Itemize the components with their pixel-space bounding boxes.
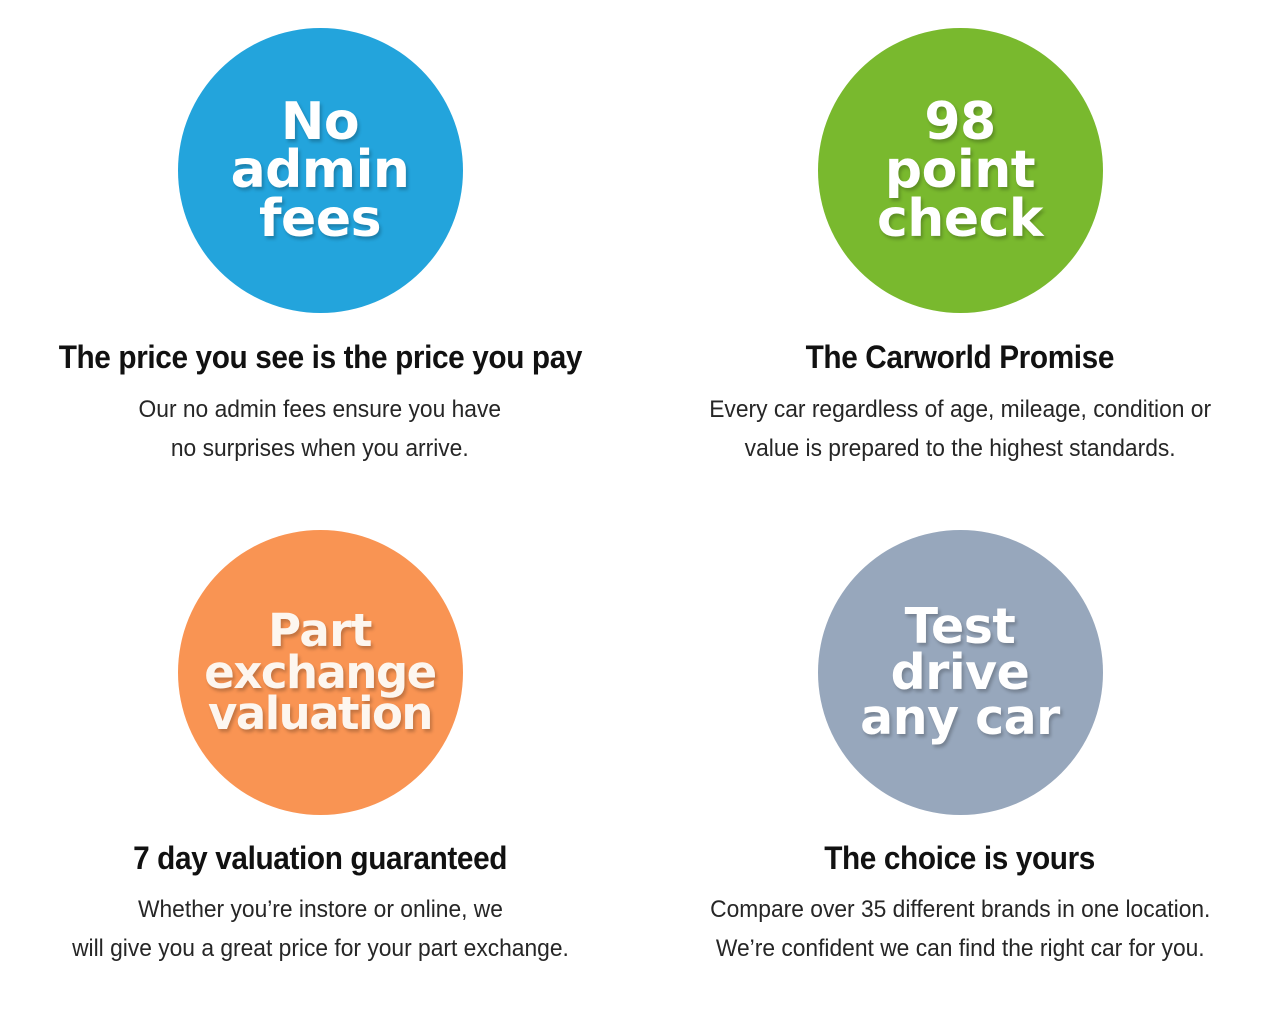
feature-card-no-admin-fees: No admin fees The price you see is the p…: [0, 8, 640, 512]
badge-circle-test-drive-any-car: Test drive any car: [818, 530, 1103, 815]
body-line: Our no admin fees ensure you have: [139, 391, 501, 430]
badge-text: Part exchange valuation: [198, 610, 441, 736]
badge-circle-part-exchange-valuation: Part exchange valuation: [178, 530, 463, 815]
badge-line: admin: [231, 146, 410, 194]
badge-text: Test drive any car: [854, 604, 1066, 741]
badge-line: fees: [231, 195, 410, 243]
body-line: value is prepared to the highest standar…: [709, 430, 1211, 469]
feature-headline: The price you see is the price you pay: [58, 340, 581, 375]
feature-card-98-point-check: 98 point check The Carworld Promise Ever…: [640, 8, 1280, 512]
body-line: will give you a great price for your par…: [72, 930, 569, 969]
badge-line: valuation: [204, 693, 435, 735]
feature-body: Compare over 35 different brands in one …: [710, 891, 1210, 969]
body-line: We’re confident we can find the right ca…: [710, 930, 1210, 969]
feature-headline: The Carworld Promise: [806, 340, 1114, 375]
feature-card-test-drive-any-car: Test drive any car The choice is yours C…: [640, 512, 1280, 1016]
body-line: Whether you’re instore or online, we: [72, 891, 569, 930]
feature-body: Every car regardless of age, mileage, co…: [709, 391, 1211, 469]
badge-line: check: [877, 195, 1043, 243]
feature-card-part-exchange-valuation: Part exchange valuation 7 day valuation …: [0, 512, 640, 1016]
body-line: Compare over 35 different brands in one …: [710, 891, 1210, 930]
badge-circle-no-admin-fees: No admin fees: [178, 28, 463, 313]
badge-line: any car: [860, 695, 1060, 741]
feature-headline: 7 day valuation guaranteed: [133, 841, 507, 876]
badge-line: 98: [877, 98, 1043, 146]
badge-text: No admin fees: [225, 98, 416, 243]
body-line: Every car regardless of age, mileage, co…: [709, 391, 1211, 430]
badge-text: 98 point check: [871, 98, 1049, 243]
badge-line: Test: [860, 604, 1060, 650]
features-grid: No admin fees The price you see is the p…: [0, 0, 1280, 1024]
feature-headline: The choice is yours: [825, 841, 1096, 876]
feature-body: Our no admin fees ensure you have no sur…: [139, 391, 501, 469]
feature-body: Whether you’re instore or online, we wil…: [72, 891, 569, 969]
body-line: no surprises when you arrive.: [139, 430, 501, 469]
badge-line: point: [877, 146, 1043, 194]
badge-circle-98-point-check: 98 point check: [818, 28, 1103, 313]
badge-line: No: [231, 98, 410, 146]
